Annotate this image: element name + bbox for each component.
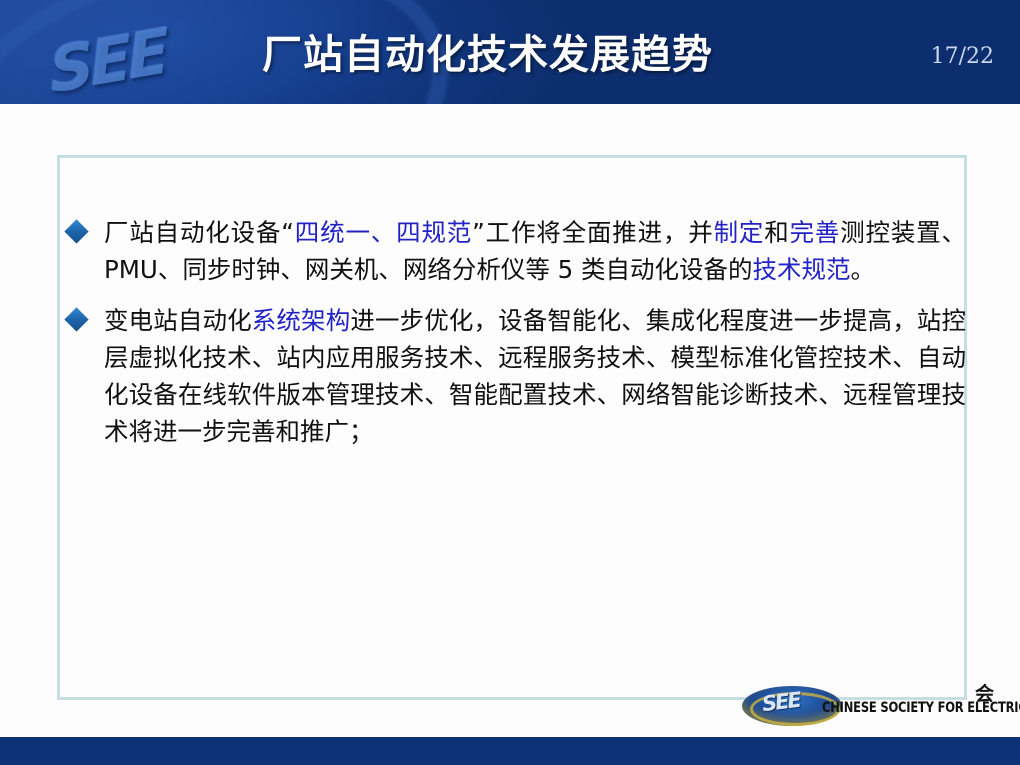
diamond-bullet-icon xyxy=(64,219,88,243)
text-run: 系统架构 xyxy=(252,306,351,335)
footer-logo-text: SEE xyxy=(761,688,801,716)
list-item: 厂站自动化设备“四统一、四规范”工作将全面推进，并制定和完善测控装置、PMU、同… xyxy=(66,214,966,288)
bullet-text-1: 厂站自动化设备“四统一、四规范”工作将全面推进，并制定和完善测控装置、PMU、同… xyxy=(104,214,966,288)
text-run: 制定 xyxy=(714,218,765,247)
slide-header: SEE 厂站自动化技术发展趋势 17/22 xyxy=(0,0,1020,104)
list-item: 变电站自动化系统架构进一步优化，设备智能化、集成化程度进一步提高，站控层虚拟化技… xyxy=(66,302,966,450)
page-title: 厂站自动化技术发展趋势 xyxy=(262,22,713,80)
slide: SEE 厂站自动化技术发展趋势 17/22 厂站自动化设备“四统一、四规范”工作… xyxy=(0,0,1020,765)
text-run: 和 xyxy=(764,218,789,247)
bottom-accent-bar xyxy=(0,737,1020,765)
footer-hanzi-mark: 会 xyxy=(975,679,994,706)
text-run: 。 xyxy=(851,255,876,284)
text-run: 四统一、四规范 xyxy=(294,218,472,247)
text-run: 厂站自动化设备“ xyxy=(104,218,294,247)
text-run: 变电站自动化 xyxy=(104,306,252,335)
text-run: 完善 xyxy=(790,218,841,247)
diamond-bullet-icon xyxy=(64,307,88,331)
page-number-indicator: 17/22 xyxy=(931,44,994,69)
bullet-text-2: 变电站自动化系统架构进一步优化，设备智能化、集成化程度进一步提高，站控层虚拟化技… xyxy=(104,302,966,450)
text-run: 技术规范 xyxy=(753,255,851,284)
text-run: ”工作将全面推进，并 xyxy=(472,218,713,247)
bullet-list: 厂站自动化设备“四统一、四规范”工作将全面推进，并制定和完善测控装置、PMU、同… xyxy=(66,214,966,464)
